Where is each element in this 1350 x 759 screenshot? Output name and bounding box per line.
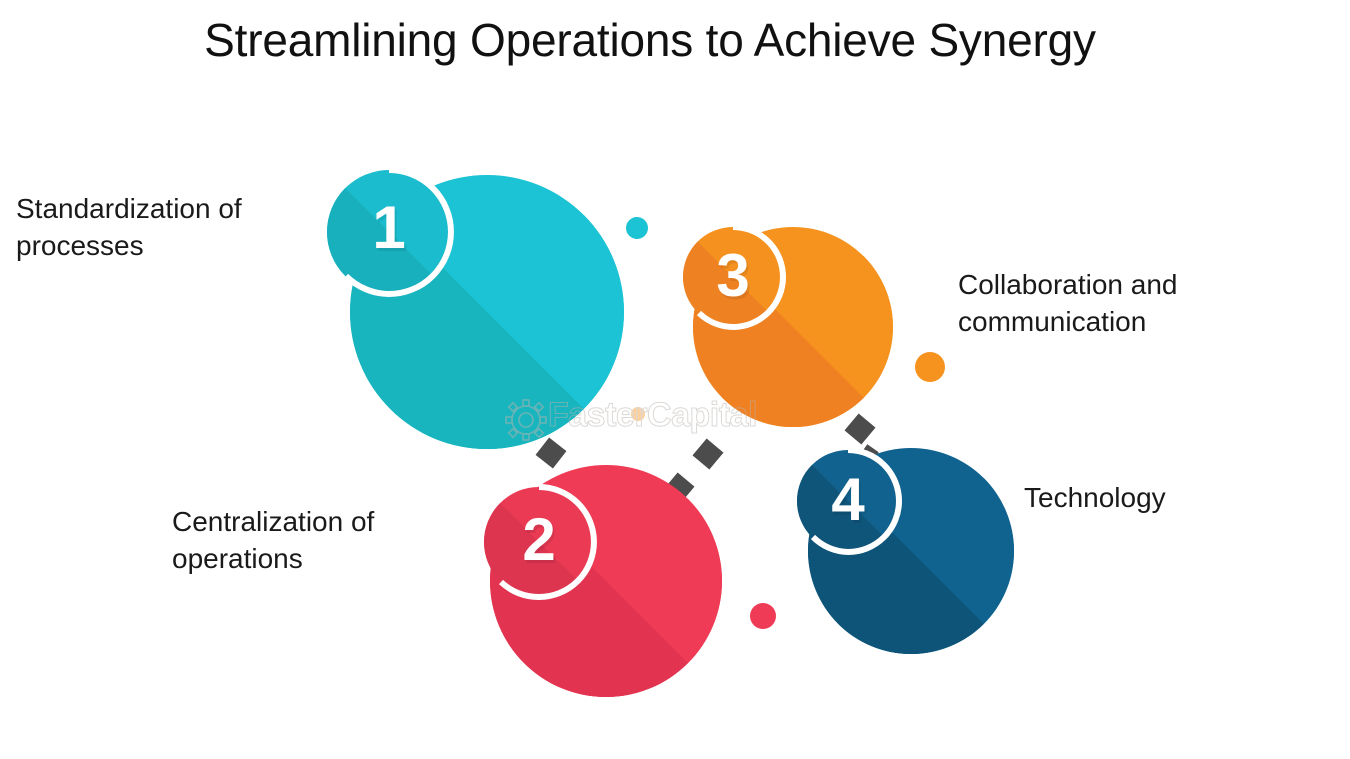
node-label-line: Standardization of: [16, 190, 316, 227]
node-label-centralization: Centralization of operations: [172, 503, 472, 577]
node-label-collaboration: Collaboration and communication: [958, 266, 1258, 340]
node-number-3: 3: [683, 246, 783, 306]
node-number-2: 2: [489, 510, 589, 570]
node-label-line: Technology: [1024, 479, 1284, 516]
accent-dot-2: [750, 603, 776, 629]
node-number-4: 4: [798, 470, 898, 530]
infographic-canvas: Streamlining Operations to Achieve Syner…: [0, 0, 1350, 759]
diagram-canvas: [0, 0, 1350, 759]
node-label-line: communication: [958, 303, 1258, 340]
node-label-standardization: Standardization of processes: [16, 190, 316, 264]
accent-dot-3: [915, 352, 945, 382]
accent-dot-1: [626, 217, 648, 239]
node-label-line: processes: [16, 227, 316, 264]
node-label-technology: Technology: [1024, 479, 1284, 516]
node-label-line: operations: [172, 540, 472, 577]
node-number-1: 1: [339, 198, 439, 258]
node-label-line: Collaboration and: [958, 266, 1258, 303]
node-label-line: Centralization of: [172, 503, 472, 540]
